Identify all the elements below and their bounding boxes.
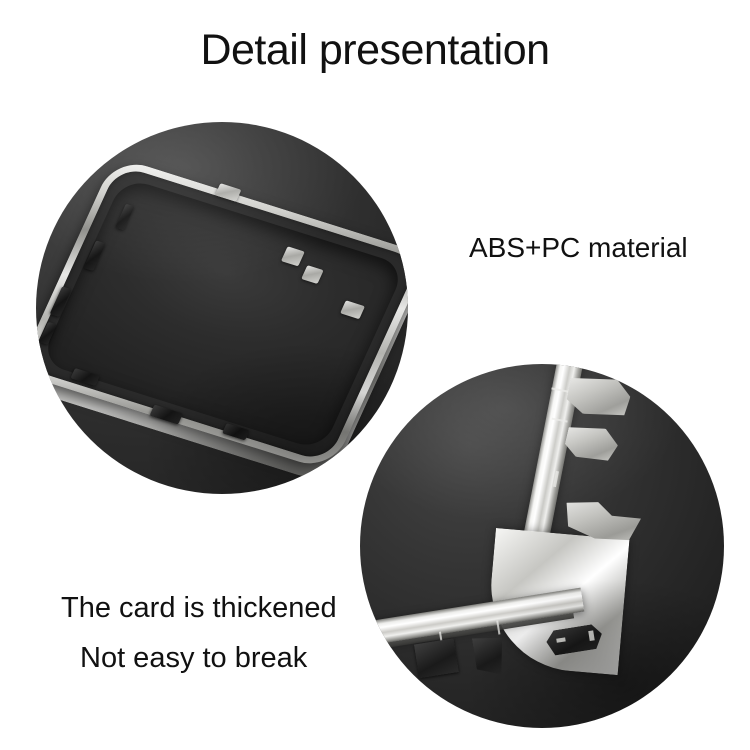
photo-content-trim-corner [360,364,724,728]
caption-not-easy-to-break: Not easy to break [80,640,307,676]
wing-clip [565,371,633,422]
wing-clip [563,421,621,466]
chrome-trim-frame [36,156,408,472]
page-title: Detail presentation [0,24,750,76]
photo-content-trim-frame [36,122,408,494]
detail-presentation-page: Detail presentation [0,0,750,750]
bracket-tab [414,638,459,678]
product-photo-trim-corner-closeup [360,364,724,728]
bracket-tab [472,634,508,678]
product-photo-trim-frame-overview [36,122,408,494]
caption-card-thickened: The card is thickened [61,590,337,626]
chrome-trim-corner [420,364,724,728]
caption-abs-pc-material: ABS+PC material [469,231,688,265]
